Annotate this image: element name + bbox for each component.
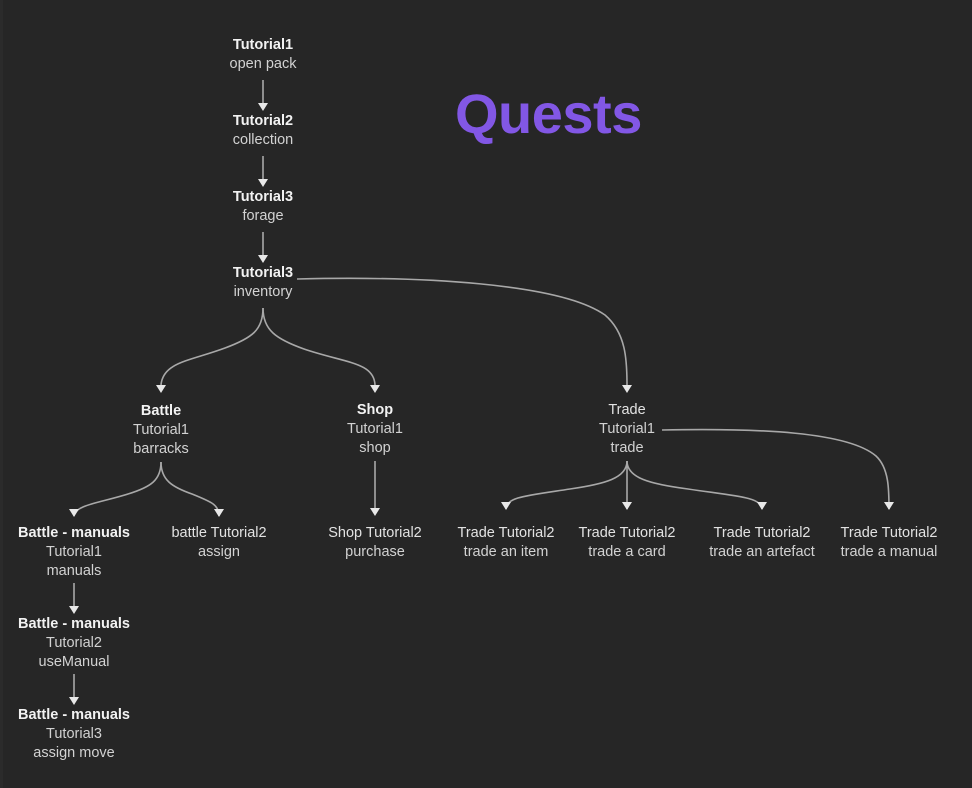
node-subtitle: Tutorial1 [542, 420, 712, 439]
node-subtitle: forage [178, 207, 348, 226]
node-subtitle: collection [178, 131, 348, 150]
edge-group [69, 80, 894, 705]
edge-battle-battle-assign [161, 462, 219, 516]
node-shop-tutorial2-purchase[interactable]: Shop Tutorial2 purchase [290, 524, 460, 562]
node-tutorial2-collection[interactable]: Tutorial2 collection [178, 112, 348, 150]
node-subtitle: shop [290, 439, 460, 458]
node-title: battle Tutorial2 [134, 524, 304, 543]
node-battle-tutorial2-assign[interactable]: battle Tutorial2 assign [134, 524, 304, 562]
arrow-head-icon [757, 502, 767, 510]
node-subtitle: trade [542, 439, 712, 458]
node-subtitle: Tutorial1 [76, 421, 246, 440]
node-title: Trade Tutorial2 [441, 524, 571, 543]
node-subtitle: Tutorial3 [0, 725, 169, 744]
node-title: Battle - manuals [0, 615, 169, 634]
node-trade[interactable]: Trade Tutorial1 trade [542, 401, 712, 458]
node-title: Shop [290, 401, 460, 420]
node-subtitle: trade an item [441, 543, 571, 562]
arrow-head-icon [370, 385, 380, 393]
node-battle[interactable]: Battle Tutorial1 barracks [76, 402, 246, 459]
node-battle-manuals-tutorial2[interactable]: Battle - manuals Tutorial2 useManual [0, 615, 169, 672]
node-subtitle: open pack [178, 55, 348, 74]
node-title: Battle - manuals [0, 706, 169, 725]
edge-trade-trade-item [506, 461, 627, 509]
arrow-head-icon [69, 606, 79, 614]
node-title: Tutorial2 [178, 112, 348, 131]
arrow-head-icon [622, 502, 632, 510]
arrow-head-icon [884, 502, 894, 510]
node-title: Trade Tutorial2 [819, 524, 959, 543]
node-title: Trade Tutorial2 [706, 524, 818, 543]
node-title: Tutorial3 [178, 264, 348, 283]
node-trade-tutorial2-artefact[interactable]: Trade Tutorial2 trade an artefact [706, 524, 818, 562]
node-title: Trade Tutorial2 [562, 524, 692, 543]
arrow-head-icon [370, 508, 380, 516]
node-shop[interactable]: Shop Tutorial1 shop [290, 401, 460, 458]
node-trade-tutorial2-item[interactable]: Trade Tutorial2 trade an item [441, 524, 571, 562]
edge-trade-trade-artefact [627, 461, 762, 509]
node-subtitle: barracks [76, 440, 246, 459]
arrow-head-icon [69, 509, 79, 517]
node-subtitle: Tutorial1 [290, 420, 460, 439]
node-title: Shop Tutorial2 [290, 524, 460, 543]
node-subtitle: useManual [0, 653, 169, 672]
arrow-head-icon [156, 385, 166, 393]
arrow-head-icon [622, 385, 632, 393]
arrow-head-icon [258, 179, 268, 187]
arrow-head-icon [258, 103, 268, 111]
node-subtitle: purchase [290, 543, 460, 562]
arrow-head-icon [69, 697, 79, 705]
node-trade-tutorial2-card[interactable]: Trade Tutorial2 trade a card [562, 524, 692, 562]
arrow-head-icon [258, 255, 268, 263]
node-subtitle: assign [134, 543, 304, 562]
arrow-head-icon [501, 502, 511, 510]
edge-inventory-battle [161, 308, 263, 385]
diagram-canvas: Quests Tutorial1 open pack Tutorial2 col… [0, 0, 972, 788]
node-subtitle: manuals [0, 562, 169, 581]
arrow-head-icon [214, 509, 224, 517]
node-subtitle: trade a card [562, 543, 692, 562]
node-title: Battle [76, 402, 246, 421]
node-tutorial3-forage[interactable]: Tutorial3 forage [178, 188, 348, 226]
node-tutorial3-inventory[interactable]: Tutorial3 inventory [178, 264, 348, 302]
node-subtitle: assign move [0, 744, 169, 763]
edge-inventory-shop [263, 308, 375, 385]
node-battle-manuals-tutorial3[interactable]: Battle - manuals Tutorial3 assign move [0, 706, 169, 763]
node-subtitle: trade an artefact [706, 543, 818, 562]
node-trade-tutorial2-manual[interactable]: Trade Tutorial2 trade a manual [819, 524, 959, 562]
node-title: Tutorial1 [178, 36, 348, 55]
node-title: Trade [542, 401, 712, 420]
node-subtitle: Tutorial2 [0, 634, 169, 653]
node-subtitle: inventory [178, 283, 348, 302]
node-subtitle: trade a manual [819, 543, 959, 562]
node-tutorial1-open-pack[interactable]: Tutorial1 open pack [178, 36, 348, 74]
node-title: Tutorial3 [178, 188, 348, 207]
edge-battle-battle-manuals-1 [74, 462, 161, 516]
page-title: Quests [455, 86, 642, 142]
